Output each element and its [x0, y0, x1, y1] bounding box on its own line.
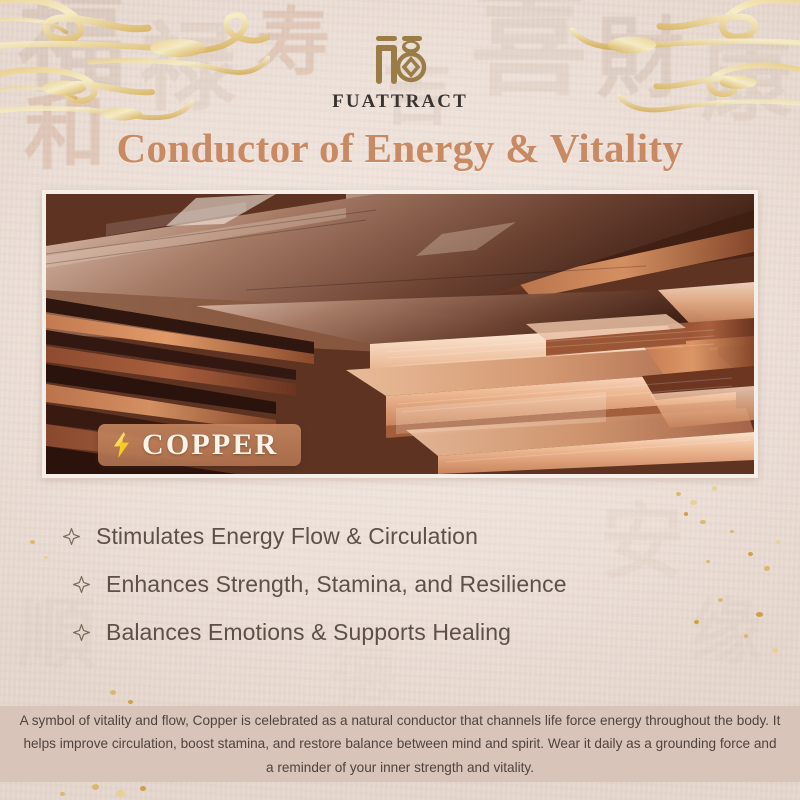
poster-canvas: 福 禄 寿 喜 財 康 和 吉 安 順 缘 德 [0, 0, 800, 800]
list-item: Enhances Strength, Stamina, and Resilien… [60, 560, 720, 608]
benefit-text: Balances Emotions & Supports Healing [106, 619, 511, 646]
gold-foil-speckle-icon [744, 634, 748, 638]
footer-description: A symbol of vitality and flow, Copper is… [18, 709, 782, 779]
gold-foil-speckle-icon [676, 492, 681, 496]
list-item: Stimulates Energy Flow & Circulation [60, 512, 720, 560]
gold-foil-speckle-icon [140, 786, 146, 791]
copper-badge-label: COPPER [142, 430, 279, 460]
gold-foil-speckle-icon [128, 700, 133, 704]
four-point-sparkle-icon [70, 624, 92, 641]
hero-image-frame: COPPER [42, 190, 758, 478]
benefits-list: Stimulates Energy Flow & Circulation Enh… [60, 512, 720, 656]
brand-name: FUATTRACT [332, 91, 468, 113]
footer-band: A symbol of vitality and flow, Copper is… [0, 706, 800, 782]
list-item: Balances Emotions & Supports Healing [60, 608, 720, 656]
fuattract-gate-coin-logo [372, 34, 428, 84]
lightning-bolt-icon [112, 432, 131, 458]
four-point-sparkle-icon [60, 528, 82, 545]
brand-header: FUATTRACT [0, 34, 800, 113]
gold-foil-speckle-icon [756, 612, 763, 617]
benefit-text: Enhances Strength, Stamina, and Resilien… [106, 571, 567, 598]
gold-foil-speckle-icon [30, 540, 35, 544]
gold-foil-speckle-icon [110, 690, 116, 695]
gold-foil-speckle-icon [776, 540, 780, 544]
gold-foil-speckle-icon [748, 552, 753, 556]
page-title: Conductor of Energy & Vitality [0, 124, 800, 172]
benefit-text: Stimulates Energy Flow & Circulation [96, 523, 478, 550]
gold-foil-speckle-icon [764, 566, 770, 571]
gold-foil-speckle-icon [92, 784, 99, 790]
copper-plates-photo: COPPER [46, 194, 754, 474]
gold-foil-speckle-icon [712, 486, 717, 491]
four-point-sparkle-icon [70, 576, 92, 593]
gold-foil-speckle-icon [44, 556, 48, 559]
gold-foil-speckle-icon [116, 790, 125, 797]
copper-badge: COPPER [98, 424, 301, 466]
gold-foil-speckle-icon [690, 500, 697, 505]
gold-foil-speckle-icon [60, 792, 65, 796]
gold-foil-speckle-icon [772, 648, 778, 653]
gold-foil-speckle-icon [730, 530, 734, 533]
